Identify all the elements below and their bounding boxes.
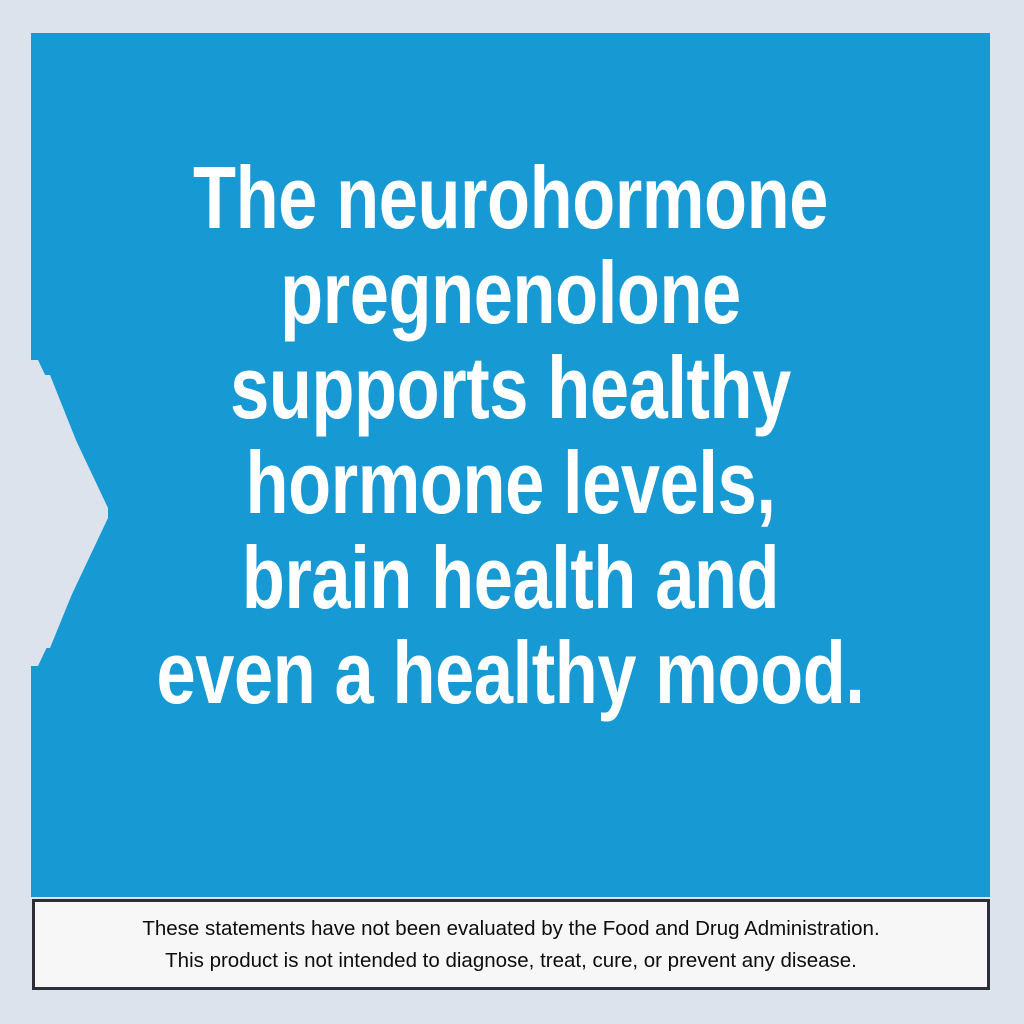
disclaimer-line-1: These statements have not been evaluated… bbox=[142, 913, 879, 945]
fda-disclaimer-box: These statements have not been evaluated… bbox=[32, 899, 990, 990]
headline-line-5: brain health and bbox=[127, 530, 894, 625]
headline-line-4: hormone levels, bbox=[127, 435, 894, 530]
headline-line-2: pregnenolone bbox=[127, 245, 894, 340]
disclaimer-line-2: This product is not intended to diagnose… bbox=[165, 945, 857, 977]
promo-card: The neurohormone pregnenolone supports h… bbox=[0, 0, 1024, 1024]
headline-line-6: even a healthy mood. bbox=[127, 625, 894, 720]
headline-text: The neurohormone pregnenolone supports h… bbox=[127, 150, 894, 720]
headline-line-3: supports healthy bbox=[127, 340, 894, 435]
headline-line-1: The neurohormone bbox=[127, 150, 894, 245]
